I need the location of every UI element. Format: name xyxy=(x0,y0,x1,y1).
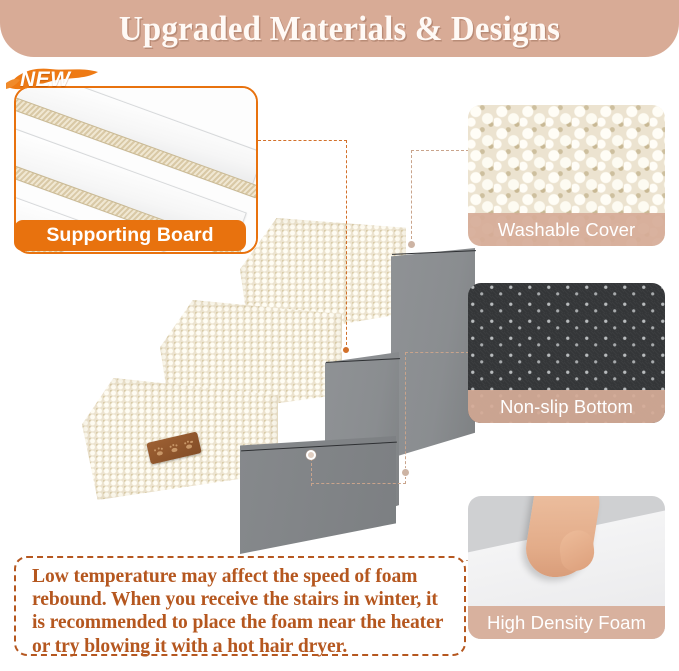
connector-bottom-v xyxy=(405,352,406,484)
paw-icon xyxy=(183,439,194,450)
connector-dot-bottom xyxy=(401,468,410,477)
connector-bottom-h2 xyxy=(311,483,406,484)
connector-supporting-board-v xyxy=(346,140,347,350)
page-title: Upgraded Materials & Designs xyxy=(20,0,658,57)
connector-cover-v xyxy=(411,150,412,244)
non-slip-bottom-label: Non-slip Bottom xyxy=(468,390,665,423)
washable-cover-label: Washable Cover xyxy=(468,213,665,246)
caution-box: Low temperature may affect the speed of … xyxy=(14,556,466,656)
paw-icon xyxy=(154,446,165,457)
infographic-canvas: Upgraded Materials & Designs NEW Support… xyxy=(0,0,679,671)
step-side-top xyxy=(391,248,475,458)
paw-icon xyxy=(169,443,180,454)
step-side-bottom xyxy=(240,436,396,554)
new-badge: NEW xyxy=(6,63,100,103)
connector-dot-supporting-board xyxy=(341,345,351,355)
caution-text: Low temperature may affect the speed of … xyxy=(32,565,449,658)
pet-stairs-product xyxy=(60,200,480,555)
feature-panel-non-slip-bottom: Non-slip Bottom xyxy=(468,283,665,423)
connector-supporting-board-h xyxy=(258,140,347,141)
connector-cover-h xyxy=(411,150,469,151)
connector-foam-v xyxy=(311,458,312,486)
connector-bottom-h xyxy=(405,352,469,353)
new-badge-label: NEW xyxy=(20,68,71,92)
connector-dot-cover xyxy=(407,240,416,249)
high-density-foam-label: High Density Foam xyxy=(468,606,665,639)
feature-panel-high-density-foam: High Density Foam xyxy=(468,496,665,639)
connector-dot-foam xyxy=(306,450,316,460)
feature-panel-washable-cover: Washable Cover xyxy=(468,105,665,246)
